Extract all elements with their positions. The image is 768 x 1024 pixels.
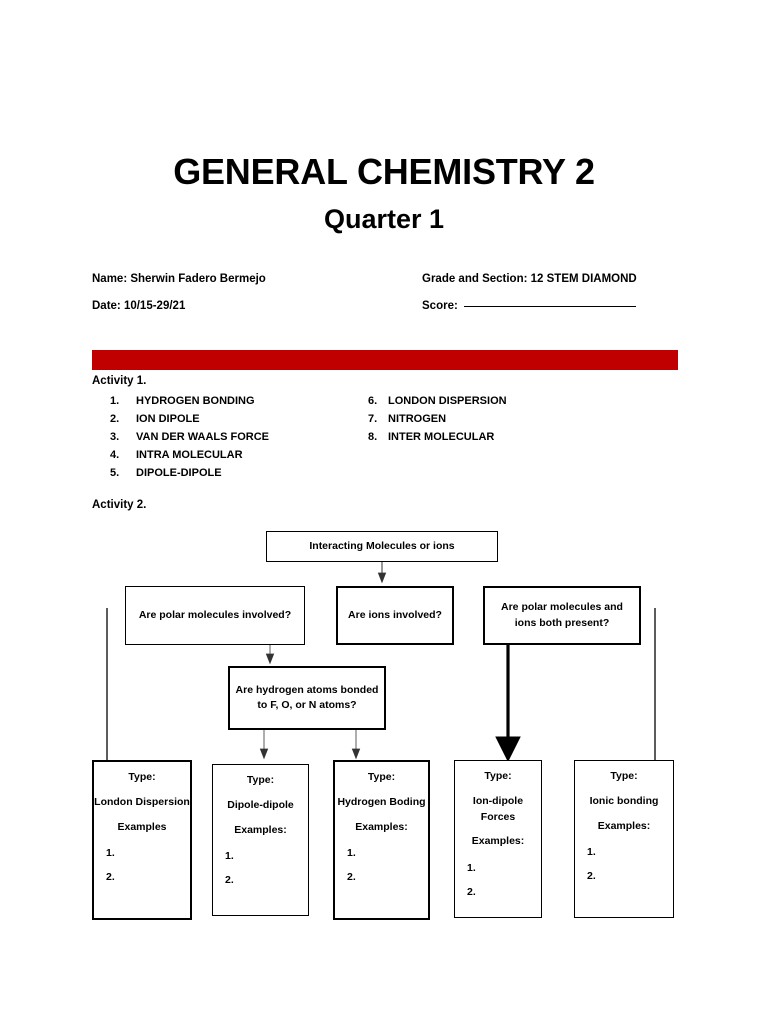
spacer xyxy=(455,785,541,794)
type-label: Type: xyxy=(213,773,308,789)
type-value: Ion-dipole Forces xyxy=(455,794,541,826)
spacer xyxy=(575,785,673,794)
examples-list: 1. 2. xyxy=(94,841,190,889)
spacer xyxy=(335,786,428,795)
example-item[interactable]: 2. xyxy=(587,864,673,888)
spacer xyxy=(213,814,308,823)
flow-type-box-ionic-bonding[interactable]: Type: Ionic bonding Examples: 1. 2. xyxy=(574,760,674,918)
spacer xyxy=(213,789,308,798)
examples-label: Examples: xyxy=(455,834,541,850)
flow-node-question-both-present[interactable]: Are polar molecules and ions both presen… xyxy=(483,586,641,645)
type-label: Type: xyxy=(575,769,673,785)
spacer xyxy=(455,825,541,834)
flow-node-question-hydrogen-atoms[interactable]: Are hydrogen atoms bonded to F, O, or N … xyxy=(228,666,386,730)
examples-label: Examples xyxy=(94,820,190,836)
type-value: London Dispersion xyxy=(94,795,190,811)
examples-list: 1. 2. xyxy=(455,856,541,904)
examples-list: 1. 2. xyxy=(575,840,673,888)
examples-label: Examples: xyxy=(213,823,308,839)
examples-label: Examples: xyxy=(335,820,428,836)
example-item[interactable]: 2. xyxy=(225,868,308,892)
type-label: Type: xyxy=(455,769,541,785)
type-value: Ionic bonding xyxy=(575,794,673,810)
flow-node-question-polar-molecules[interactable]: Are polar molecules involved? xyxy=(125,586,305,645)
spacer xyxy=(335,811,428,820)
examples-list: 1. 2. xyxy=(335,841,428,889)
flow-type-box-hydrogen-bonding[interactable]: Type: Hydrogen Boding Examples: 1. 2. xyxy=(333,760,430,920)
flow-type-box-ion-dipole-forces[interactable]: Type: Ion-dipole Forces Examples: 1. 2. xyxy=(454,760,542,918)
spacer xyxy=(94,786,190,795)
example-item[interactable]: 1. xyxy=(347,841,428,865)
examples-label: Examples: xyxy=(575,819,673,835)
example-item[interactable]: 1. xyxy=(467,856,541,880)
examples-list: 1. 2. xyxy=(213,844,308,892)
type-value: Hydrogen Boding xyxy=(335,795,428,811)
spacer xyxy=(94,811,190,820)
example-item[interactable]: 2. xyxy=(106,865,190,889)
flowchart-diagram: Interacting Molecules or ions Are polar … xyxy=(0,0,768,1024)
spacer xyxy=(575,810,673,819)
type-label: Type: xyxy=(94,770,190,786)
flow-type-box-london-dispersion[interactable]: Type: London Dispersion Examples 1. 2. xyxy=(92,760,192,920)
example-item[interactable]: 1. xyxy=(106,841,190,865)
type-value: Dipole-dipole xyxy=(213,798,308,814)
example-item[interactable]: 2. xyxy=(467,880,541,904)
example-item[interactable]: 2. xyxy=(347,865,428,889)
flow-node-question-ions[interactable]: Are ions involved? xyxy=(336,586,454,645)
flow-node-root[interactable]: Interacting Molecules or ions xyxy=(266,531,498,562)
example-item[interactable]: 1. xyxy=(225,844,308,868)
type-label: Type: xyxy=(335,770,428,786)
flow-type-box-dipole-dipole[interactable]: Type: Dipole-dipole Examples: 1. 2. xyxy=(212,764,309,916)
example-item[interactable]: 1. xyxy=(587,840,673,864)
